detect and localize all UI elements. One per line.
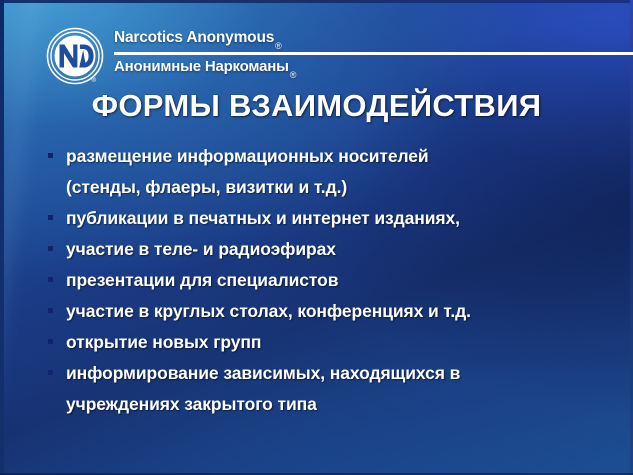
square-bullet-icon (48, 246, 53, 251)
list-item: информирование зависимых, находящихся в (46, 358, 626, 389)
list-item-label: участие в круглых столах, конференциях и… (66, 296, 626, 327)
brand-name-russian-text: Анонимные Наркоманы (114, 58, 289, 75)
list-item: публикации в печатных и интернет издания… (46, 203, 626, 234)
header-divider-rule (114, 52, 633, 55)
list-item: размещение информационных носителей (46, 141, 626, 172)
square-bullet-icon (48, 277, 53, 282)
list-item-continuation: (стенды, флаеры, визитки и т.д.) (46, 172, 626, 203)
list-item: презентации для специалистов (46, 265, 626, 296)
list-item-label: публикации в печатных и интернет издания… (66, 203, 626, 234)
brand-name-english: Narcotics Anonymous® (114, 29, 281, 48)
square-bullet-icon (48, 153, 53, 158)
list-item-label: презентации для специалистов (66, 265, 626, 296)
list-item-label: открытие новых групп (66, 327, 626, 358)
list-item-label: учреждениях закрытого типа (66, 389, 626, 420)
registered-trademark-icon: ® (275, 41, 281, 51)
slide-canvas: ® Narcotics Anonymous® Анонимные Наркома… (0, 0, 633, 475)
slide-title: ФОРМЫ ВЗАИМОДЕЙСТВИЯ (0, 88, 633, 124)
square-bullet-icon (48, 370, 53, 375)
na-circle-logo-icon: ® (46, 27, 104, 85)
list-item-label: (стенды, флаеры, визитки и т.д.) (66, 172, 626, 203)
list-item: участие в теле- и радиоэфирах (46, 234, 626, 265)
list-item: открытие новых групп (46, 327, 626, 358)
list-item-label: размещение информационных носителей (66, 141, 626, 172)
square-bullet-icon (48, 308, 53, 313)
list-item-continuation: учреждениях закрытого типа (46, 389, 626, 420)
list-item: участие в круглых столах, конференциях и… (46, 296, 626, 327)
brand-name-english-text: Narcotics Anonymous (114, 29, 274, 46)
square-bullet-icon (48, 339, 53, 344)
svg-text:®: ® (92, 77, 97, 84)
list-item-label: информирование зависимых, находящихся в (66, 358, 626, 389)
brand-name-russian: Анонимные Наркоманы® (114, 58, 295, 77)
bullet-list: размещение информационных носителей (сте… (46, 141, 626, 420)
square-bullet-icon (48, 215, 53, 220)
list-item-label: участие в теле- и радиоэфирах (66, 234, 626, 265)
slide-header: ® Narcotics Anonymous® Анонимные Наркома… (0, 0, 633, 88)
registered-trademark-icon-ru: ® (290, 70, 296, 80)
